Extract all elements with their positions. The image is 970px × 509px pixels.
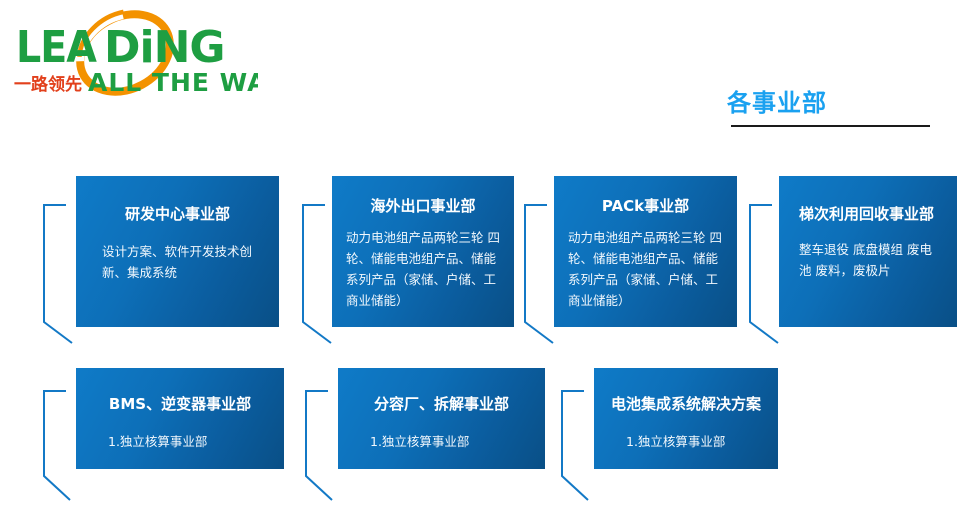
svg-text:ALL THE WAY: ALL THE WAY [88,68,258,97]
division-card-battery-system-solution[interactable]: 电池集成系统解决方案 1.独立核算事业部 [594,368,778,469]
division-card-body: 动力电池组产品两轮三轮 四轮、储能电池组产品、储能系列产品（家储、户储、工商业储… [346,227,500,311]
division-card-overseas-export[interactable]: 海外出口事业部 动力电池组产品两轮三轮 四轮、储能电池组产品、储能系列产品（家储… [332,176,514,327]
division-card-body: 1.独立核算事业部 [352,425,531,452]
division-card-pack[interactable]: PACk事业部 动力电池组产品两轮三轮 四轮、储能电池组产品、储能系列产品（家储… [554,176,737,327]
division-card-body: 1.独立核算事业部 [608,425,764,452]
division-card-title: 海外出口事业部 [346,190,500,217]
division-card-title: PACk事业部 [568,190,723,217]
division-card-body: 1.独立核算事业部 [90,425,270,452]
division-card-capacity-disassembly[interactable]: 分容厂、拆解事业部 1.独立核算事业部 [338,368,545,469]
svg-text:LEA: LEA [16,22,97,73]
page-title-underline [731,125,930,127]
page-title-text: 各事业部 [727,88,932,118]
svg-text:DiNG: DiNG [104,22,225,73]
company-logo: LEA DiNG 一路领先 ALL THE WAY [8,6,258,98]
division-card-title: 电池集成系统解决方案 [608,382,764,415]
division-card-rd-center[interactable]: 研发中心事业部 设计方案、软件开发技术创新、集成系统 [76,176,279,327]
division-card-body: 整车退役 底盘模组 废电池 废料，废极片 [793,235,943,281]
division-card-title: BMS、逆变器事业部 [90,382,270,415]
division-card-bms-inverter[interactable]: BMS、逆变器事业部 1.独立核算事业部 [76,368,284,469]
page-title: 各事业部 [727,88,932,118]
division-card-title: 分容厂、拆解事业部 [352,382,531,415]
division-card-body: 设计方案、软件开发技术创新、集成系统 [90,235,265,283]
division-card-recycling[interactable]: 梯次利用回收事业部 整车退役 底盘模组 废电池 废料，废极片 [779,176,957,327]
division-card-title: 研发中心事业部 [90,190,265,225]
logo-artwork: LEA DiNG 一路领先 ALL THE WAY [8,6,258,98]
division-card-body: 动力电池组产品两轮三轮 四轮、储能电池组产品、储能系列产品（家储、户储、工商业储… [568,227,723,311]
svg-text:一路领先: 一路领先 [14,74,82,95]
division-card-title: 梯次利用回收事业部 [793,190,943,225]
